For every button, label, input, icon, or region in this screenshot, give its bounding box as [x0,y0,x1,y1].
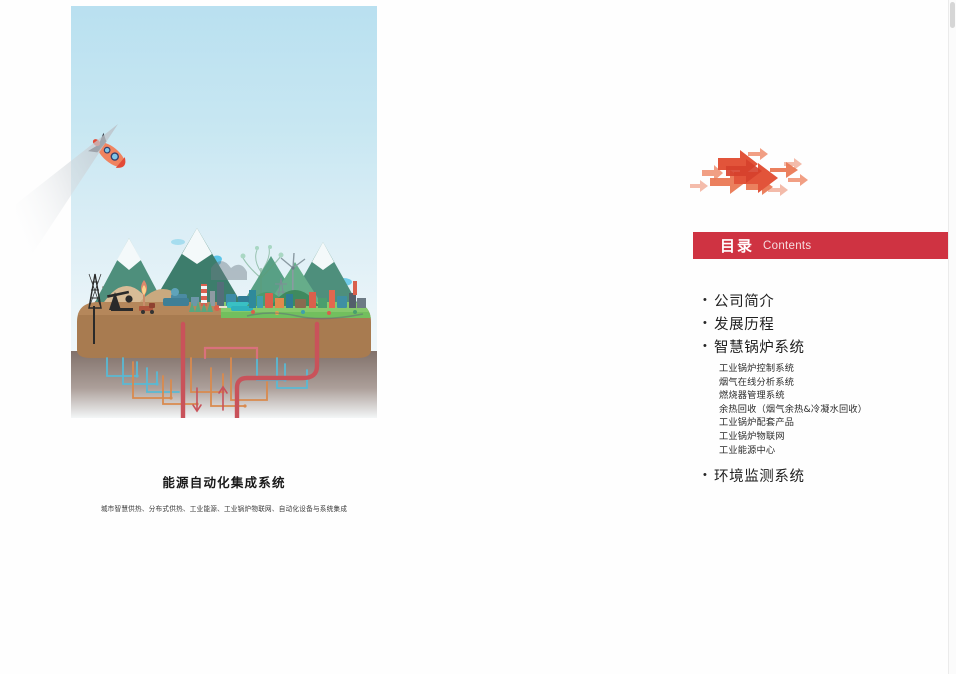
bullet-icon: • [703,470,714,481]
bullet-icon: • [703,318,714,329]
toc-title-cn: 目录 [720,235,754,256]
toc-subitem-energy-center[interactable]: 工业能源中心 [719,444,953,458]
toc-subitem-boiler-accessories[interactable]: 工业锅炉配套产品 [719,416,953,430]
toc-title-en: Contents [763,240,811,252]
scrollbar-track[interactable] [948,0,956,674]
poster-image [71,6,377,418]
poster-caption: 能源自动化集成系统 城市智慧供热、分布式供热、工业能源、工业锅炉物联网、自动化设… [71,472,377,513]
poster-illustration [71,6,377,418]
toc-item-label: 环境监测系统 [714,467,805,487]
toc-subitem-flue-gas-analysis[interactable]: 烟气在线分析系统 [719,376,953,390]
toc-subitem-waste-heat-recovery[interactable]: 余热回收（烟气余热&冷凝水回收） [719,403,953,417]
toc-banner: 目录 Contents [693,232,956,259]
toc-subitem-boiler-control[interactable]: 工业锅炉控制系统 [719,362,953,376]
poster-subtitle: 城市智慧供热、分布式供热、工业能源、工业锅炉物联网、自动化设备与系统集成 [71,503,377,513]
energy-system-illustration [71,6,377,418]
toc-subitem-burner-management[interactable]: 燃烧器管理系统 [719,389,953,403]
bullet-icon: • [703,295,714,306]
toc-sublist: 工业锅炉控制系统 烟气在线分析系统 燃烧器管理系统 余热回收（烟气余热&冷凝水回… [703,362,953,457]
toc-item-history[interactable]: • 发展历程 [703,315,953,335]
toc-item-company-intro[interactable]: • 公司简介 [703,292,953,312]
poster-title: 能源自动化集成系统 [71,472,377,491]
toc-item-environmental-monitoring[interactable]: • 环境监测系统 [703,467,953,487]
toc-subitem-boiler-iot[interactable]: 工业锅炉物联网 [719,430,953,444]
toc-item-label: 智慧锅炉系统 [714,338,805,358]
bullet-icon: • [703,341,714,352]
arrows-logo [688,148,814,200]
slide-canvas: 能源自动化集成系统 城市智慧供热、分布式供热、工业能源、工业锅炉物联网、自动化设… [0,0,956,674]
toc-item-label: 发展历程 [714,315,774,335]
cloud-icon [171,239,185,245]
toc-item-label: 公司简介 [714,292,774,312]
scrollbar-thumb[interactable] [950,2,955,28]
toc-item-smart-boiler-system[interactable]: • 智慧锅炉系统 [703,338,953,358]
toc-list: • 公司简介 • 发展历程 • 智慧锅炉系统 工业锅炉控制系统 烟气在线分析系统… [703,292,953,490]
